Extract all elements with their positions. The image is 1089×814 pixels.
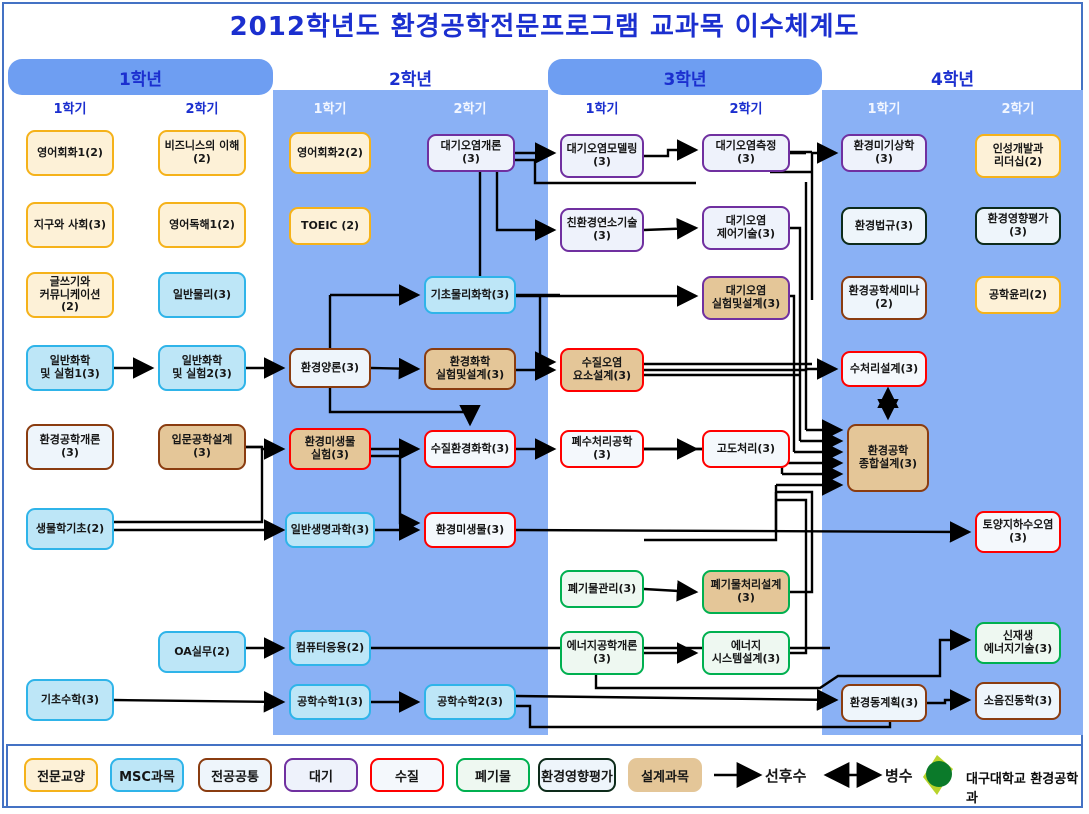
course-label: 수질오염 요소설계(3) [573, 357, 631, 382]
year-header-label: 3학년 [663, 65, 706, 90]
course-label: 폐기물관리(3) [568, 583, 636, 596]
course-label: 지구와 사회(3) [34, 219, 106, 232]
page-title: 2012학년도 환경공학전문프로그램 교과목 이수체계도 [0, 6, 1089, 43]
year-header-label: 4학년 [931, 65, 974, 90]
course-label: 환경미기상학(3) [846, 140, 922, 165]
course-label: 대기오염 실험및설계(3) [712, 285, 780, 310]
course-label: 수질환경화학(3) [431, 443, 509, 456]
year-header-label: 1학년 [119, 65, 162, 90]
course-box: 환경미생물(3) [424, 512, 516, 548]
course-label: 에너지공학개론 (3) [567, 640, 638, 665]
course-box: 토양지하수오염 (3) [975, 511, 1061, 553]
course-box: 친환경연소기술 (3) [560, 208, 644, 252]
course-label: 토양지하수오염 (3) [983, 519, 1054, 544]
course-box: 환경법규(3) [841, 207, 927, 245]
year-header-4: 4학년 [822, 59, 1083, 95]
course-label: 공학수학2(3) [437, 696, 503, 709]
year-header-1: 1학년 [8, 59, 273, 95]
course-label: 환경양론(3) [301, 362, 359, 375]
course-box: 소음진동학(3) [975, 682, 1061, 720]
course-label: 환경화학 실험및설계(3) [436, 356, 504, 381]
semester-header-4: 2학기 [415, 98, 525, 117]
course-box: 대기오염 실험및설계(3) [702, 276, 790, 320]
semester-header-7: 1학기 [829, 98, 939, 117]
legend-arrows [8, 746, 1085, 806]
course-box: 대기오염개론(3) [427, 134, 515, 172]
course-label: 폐수처리공학(3) [565, 436, 639, 461]
course-box: 환경공학 종합설계(3) [847, 424, 929, 492]
course-box: 환경동계획(3) [841, 684, 927, 722]
course-label: 환경법규(3) [855, 220, 913, 233]
course-label: OA실무(2) [174, 646, 230, 659]
course-label: 생물학기초(2) [36, 523, 104, 536]
course-box: 공학윤리(2) [975, 276, 1061, 314]
semester-header-3: 1학기 [275, 98, 385, 117]
course-label: 일반화학 및 실험1(3) [40, 355, 100, 380]
course-label: 기초수학(3) [41, 694, 99, 707]
course-label: 공학수학1(3) [297, 696, 363, 709]
course-label: TOEIC (2) [301, 220, 359, 233]
course-label: 에너지 시스템설계(3) [712, 640, 780, 665]
course-label: 일반생명과학(3) [291, 524, 369, 537]
course-label: 환경미생물 실험(3) [305, 436, 356, 461]
semester-header-8: 2학기 [963, 98, 1073, 117]
course-label: 수처리설계(3) [850, 363, 918, 376]
course-label: 대기오염모델링 (3) [567, 143, 638, 168]
course-box: 지구와 사회(3) [26, 202, 114, 248]
course-box: 입문공학설계(3) [158, 424, 246, 470]
course-label: 고도처리(3) [717, 443, 775, 456]
course-box: 대기오염모델링 (3) [560, 134, 644, 178]
course-box: 대기오염측정(3) [702, 134, 790, 172]
year-header-3: 3학년 [548, 59, 822, 95]
course-box: 비즈니스의 이해 (2) [158, 130, 246, 176]
course-box: 글쓰기와 커뮤니케이션(2) [26, 272, 114, 318]
course-label: 영어독해1(2) [169, 219, 235, 232]
course-box: 영어회화2(2) [289, 132, 371, 174]
course-label: 영어회화2(2) [297, 147, 363, 160]
course-box: 영어독해1(2) [158, 202, 246, 248]
course-box: 폐기물처리설계 (3) [702, 570, 790, 614]
course-label: 영어회화1(2) [37, 147, 103, 160]
legend-prereq-label: 선후수 [765, 765, 806, 786]
legend-coreq-label: 병수 [885, 765, 913, 786]
course-box: 수처리설계(3) [841, 351, 927, 387]
course-box: 환경미생물 실험(3) [289, 428, 371, 470]
course-box: 기초수학(3) [26, 679, 114, 721]
course-box: 공학수학2(3) [424, 684, 516, 720]
course-label: 환경공학세미나 (2) [849, 285, 920, 310]
semester-header-5: 1학기 [547, 98, 657, 117]
course-box: 환경영향평가(3) [975, 207, 1061, 245]
course-box: 폐기물관리(3) [560, 570, 644, 608]
course-label: 대기오염개론(3) [432, 140, 510, 165]
course-box: OA실무(2) [158, 631, 246, 673]
course-box: 고도처리(3) [702, 430, 790, 468]
course-box: 일반물리(3) [158, 272, 246, 318]
course-label: 대기오염 제어기술(3) [717, 215, 775, 240]
course-box: 대기오염 제어기술(3) [702, 206, 790, 250]
course-label: 기초물리화학(3) [431, 289, 509, 302]
course-box: 폐수처리공학(3) [560, 430, 644, 468]
course-label: 컴퓨터응용(2) [296, 642, 364, 655]
course-label: 입문공학설계(3) [163, 434, 241, 459]
course-box: 생물학기초(2) [26, 508, 114, 550]
course-box: 환경양론(3) [289, 348, 371, 388]
course-label: 일반화학 및 실험2(3) [172, 355, 232, 380]
course-box: 기초물리화학(3) [424, 276, 516, 314]
org-label: 대구대학교 환경공학과 [966, 768, 1081, 806]
diagram-root: 2012학년도 환경공학전문프로그램 교과목 이수체계도 1학년 2학년 3학년… [0, 0, 1089, 814]
course-box: 영어회화1(2) [26, 130, 114, 176]
course-label: 인성개발과 리더십(2) [993, 143, 1044, 168]
course-label: 폐기물처리설계 (3) [711, 579, 782, 604]
course-box: 인성개발과 리더십(2) [975, 134, 1061, 178]
course-label: 환경공학개론(3) [31, 434, 109, 459]
course-label: 환경미생물(3) [436, 524, 504, 537]
course-label: 환경영향평가(3) [980, 213, 1056, 238]
course-label: 소음진동학(3) [984, 695, 1052, 708]
course-box: 에너지 시스템설계(3) [702, 631, 790, 675]
course-box: 공학수학1(3) [289, 684, 371, 720]
course-box: 일반생명과학(3) [285, 512, 375, 548]
course-label: 대기오염측정(3) [707, 140, 785, 165]
year-header-2: 2학년 [273, 59, 548, 95]
course-box: 일반화학 및 실험1(3) [26, 345, 114, 391]
course-label: 환경동계획(3) [850, 697, 918, 710]
course-box: 수질환경화학(3) [424, 430, 516, 468]
course-label: 환경공학 종합설계(3) [859, 445, 917, 470]
course-box: 수질오염 요소설계(3) [560, 348, 644, 392]
semester-header-2: 2학기 [147, 98, 257, 117]
course-label: 일반물리(3) [173, 289, 231, 302]
course-label: 신재생 에너지기술(3) [984, 630, 1052, 655]
course-box: 컴퓨터응용(2) [289, 630, 371, 666]
course-label: 글쓰기와 커뮤니케이션(2) [31, 276, 109, 314]
course-box: 환경화학 실험및설계(3) [424, 348, 516, 390]
course-box: 환경미기상학(3) [841, 134, 927, 172]
course-label: 친환경연소기술 (3) [567, 217, 638, 242]
course-label: 공학윤리(2) [989, 289, 1047, 302]
course-box: 일반화학 및 실험2(3) [158, 345, 246, 391]
semester-header-1: 1학기 [15, 98, 125, 117]
course-box: 에너지공학개론 (3) [560, 631, 644, 675]
course-box: 환경공학세미나 (2) [841, 276, 927, 320]
course-box: 환경공학개론(3) [26, 424, 114, 470]
course-label: 비즈니스의 이해 (2) [165, 140, 240, 165]
course-box: 신재생 에너지기술(3) [975, 622, 1061, 664]
year-header-label: 2학년 [389, 65, 432, 90]
course-box: TOEIC (2) [289, 207, 371, 245]
semester-header-6: 2학기 [691, 98, 801, 117]
legend: 전문교양MSC과목전공공통대기수질폐기물환경영향평가설계과목 선후수 병수 대구… [6, 744, 1083, 808]
